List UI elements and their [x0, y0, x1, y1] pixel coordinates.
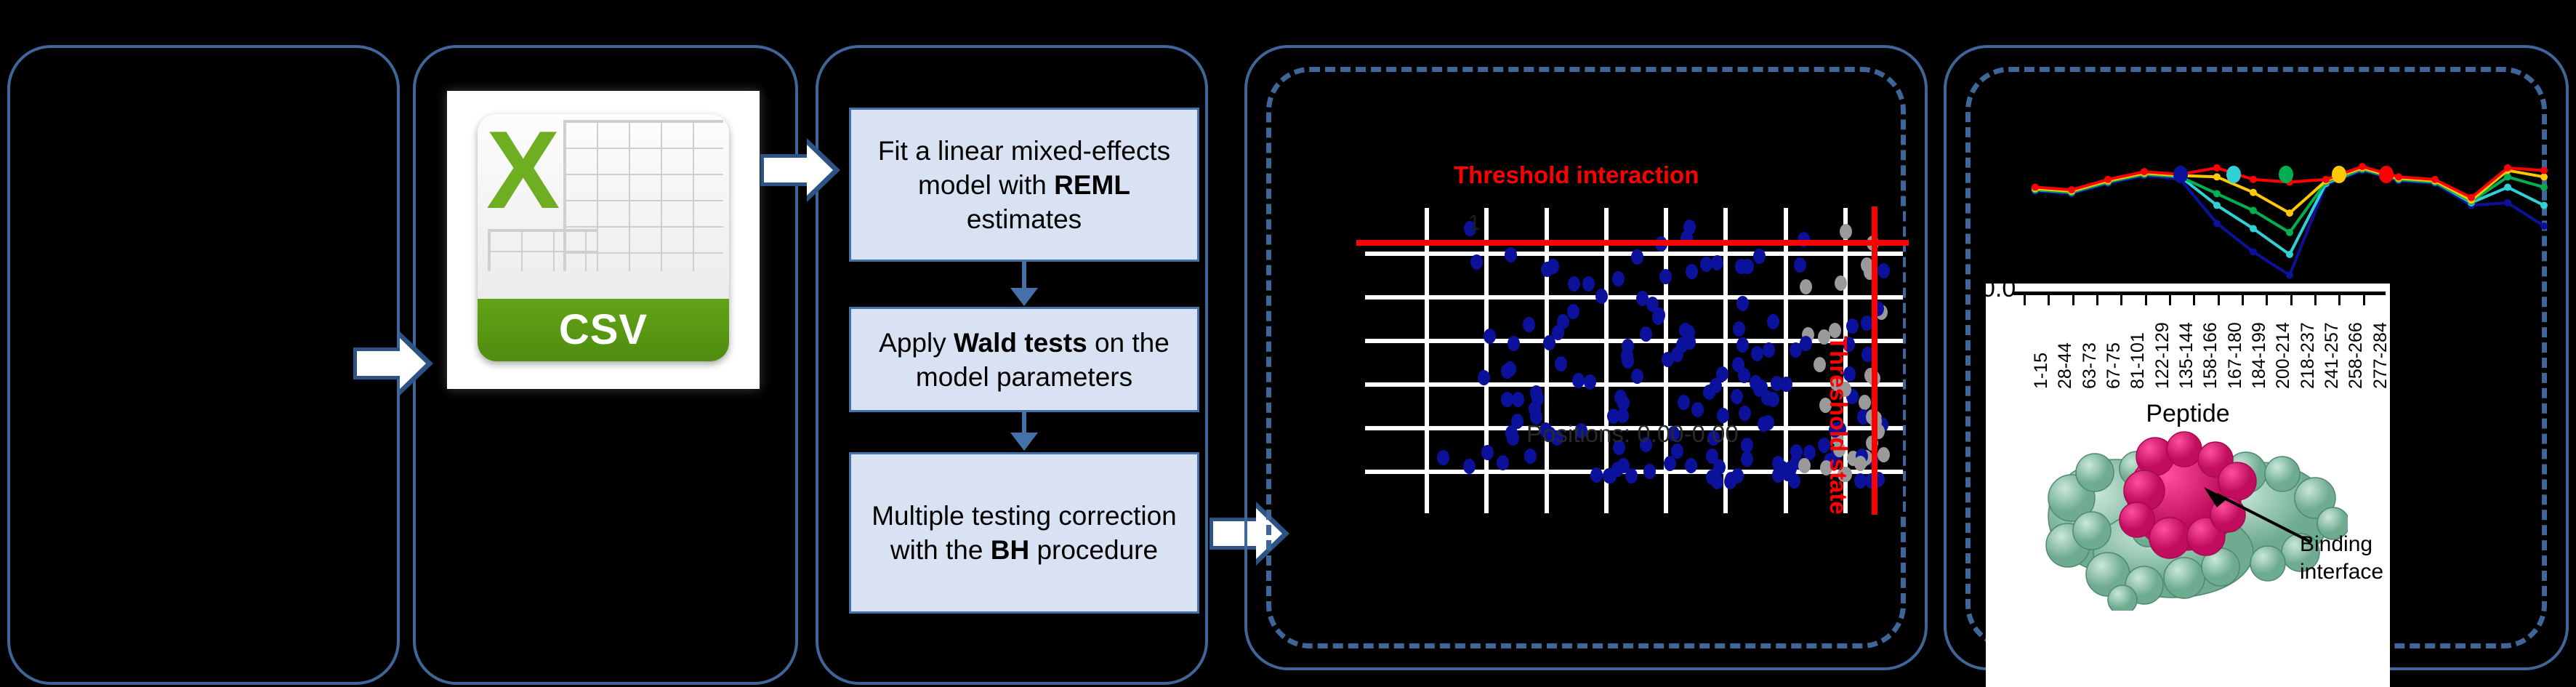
scatter-point [1678, 395, 1690, 410]
scatter-point [1557, 314, 1569, 329]
peptide-tick-label: 63-73 [2080, 342, 2101, 389]
scatter-point [1604, 468, 1617, 483]
peptide-axis-tick [2314, 295, 2317, 305]
scatter-point [1686, 264, 1698, 279]
scatter-point [1568, 276, 1580, 292]
chart-series-marker [2068, 186, 2075, 193]
threshold-interaction-label: Threshold interaction [1454, 161, 1699, 189]
peptide-tick-label: 167-180 [2225, 322, 2246, 389]
scatter-point [1798, 458, 1811, 473]
connector-step1-step2-head [1010, 288, 1038, 306]
scatter-point [1700, 257, 1712, 272]
chart-legend-dot [2173, 166, 2188, 183]
chart-series-marker [2540, 166, 2548, 174]
peptide-tick-label: 81-101 [2128, 332, 2149, 389]
csv-label-band: CSV [478, 299, 729, 361]
scatter-point [1664, 456, 1676, 471]
chart-series-marker [2431, 176, 2439, 183]
peptide-axis-tick [2169, 295, 2171, 305]
arrow-shaft [353, 347, 406, 379]
peptide-axis-tick [2145, 295, 2147, 305]
scatter-point [1541, 262, 1553, 277]
binding-interface-label-line2: interface [2300, 558, 2383, 586]
chart-series-marker [2359, 163, 2366, 170]
arrow-shaft [760, 154, 813, 186]
scatter-point [1741, 451, 1753, 467]
peptide-tick-label: 135-144 [2176, 322, 2197, 389]
chart-series-marker [2141, 168, 2148, 175]
flow-arrow-input-to-data [353, 332, 439, 395]
scatter-point [1840, 224, 1852, 239]
results-white-card: 0.0 1-1528-4463-7367-7581-101122-129135-… [1986, 284, 2390, 687]
peptide-axis-tick [2096, 295, 2098, 305]
peptide-tick-label: 218-237 [2298, 322, 2319, 389]
step-wald-tests: Apply Wald tests on the model parameters [849, 307, 1199, 412]
chart-series-marker [2504, 199, 2511, 206]
connector-step2-step3-head [1010, 433, 1038, 451]
chart-series-marker [2250, 207, 2257, 214]
scatter-point [1567, 304, 1579, 319]
peptide-axis-tick [2048, 295, 2050, 305]
scatter-point [1523, 317, 1535, 332]
chart-series-marker [2540, 201, 2548, 209]
chart-series-marker [2322, 176, 2330, 183]
peptide-axis-tick [2338, 295, 2340, 305]
chart-y-axis-label: 0.0 [1986, 284, 2016, 303]
scatter-point [1733, 321, 1745, 337]
chart-series-marker [2540, 222, 2548, 230]
scatter-point [1572, 373, 1585, 388]
chart-x-axis-title: Peptide [1986, 400, 2390, 428]
scatter-point [1753, 249, 1766, 264]
arrow-head-inner [400, 338, 426, 389]
chart-series-marker [2213, 201, 2221, 209]
peptide-axis-tick [2218, 295, 2220, 305]
connector-step2-step3 [1022, 412, 1026, 434]
peptide-axis-tick [2072, 295, 2074, 305]
csv-file-icon: X CSV [447, 91, 760, 389]
scatter-point [1736, 337, 1749, 353]
scatter-point [1497, 455, 1509, 470]
peptide-tick-label: 277-284 [2370, 322, 2390, 389]
chart-series-marker [2540, 184, 2548, 191]
chart-series-marker [2213, 190, 2221, 197]
scatter-point [1877, 263, 1890, 278]
scatter-gridline-horizontal [1365, 295, 1903, 300]
peptide-axis-tick [2120, 295, 2122, 305]
peptide-axis-tick [2193, 295, 2195, 305]
chart-series-marker [2286, 209, 2293, 217]
csv-icon-tile: X CSV [478, 114, 729, 361]
scatter-point [1481, 445, 1494, 460]
chart-series-marker [2213, 220, 2221, 227]
csv-label-text: CSV [478, 299, 729, 361]
arrow-head-inner [807, 145, 833, 196]
chart-series-marker [2213, 164, 2221, 172]
chart-series-line [2035, 170, 2544, 275]
step-bh-correction: Multiple testing correction with the BH … [849, 452, 1199, 614]
chart-series-marker [2286, 271, 2293, 278]
chart-series-marker [2032, 184, 2039, 191]
scatter-point [1636, 291, 1649, 306]
scatter-point [1710, 378, 1722, 393]
scatter-point [1731, 389, 1743, 404]
peptide-tick-label: 258-266 [2346, 322, 2367, 389]
chart-legend-dot [2226, 166, 2241, 183]
pipeline-stage-input-panel [7, 45, 400, 685]
connector-step1-step2 [1022, 262, 1026, 289]
scatter-point [1512, 392, 1524, 407]
chart-series-marker [2250, 248, 2257, 255]
peptide-tick-label: 122-129 [2152, 322, 2173, 389]
peptide-tick-label: 158-166 [2200, 322, 2221, 389]
chart-x-axis-line [2013, 292, 2386, 295]
scatter-point [1584, 374, 1596, 390]
scatter-point [1741, 438, 1753, 453]
chart-series-marker [2504, 184, 2511, 191]
scatter-point [1625, 468, 1638, 483]
scatter-point [1711, 255, 1723, 270]
chart-legend-dot [2332, 166, 2346, 183]
threshold-state-line [1872, 206, 1877, 515]
peptide-axis-tick [2024, 295, 2026, 305]
scatter-point [1767, 314, 1779, 329]
scatter-point [1736, 296, 1749, 311]
chart-series-marker [2104, 176, 2112, 183]
scatter-point [1582, 276, 1595, 292]
threshold-interaction-line [1356, 240, 1909, 246]
scatter-point [1501, 363, 1513, 379]
scatter-point [1524, 449, 1537, 464]
chart-legend-dot [2379, 166, 2394, 183]
scatter-point [1437, 450, 1449, 465]
scatter-point [1590, 467, 1603, 483]
peptide-tick-label: 67-75 [2104, 342, 2125, 389]
chart-series-marker [2250, 225, 2257, 232]
scatter-point [1508, 336, 1520, 351]
excel-x-glyph: X [486, 116, 560, 225]
scatter-point [1612, 271, 1625, 286]
scatter-point [1877, 447, 1890, 462]
scatter-point [1691, 402, 1704, 417]
peptide-tick-label: 241-257 [2322, 322, 2343, 389]
scatter-point [1505, 247, 1517, 262]
scatter-point [1846, 318, 1859, 334]
scatter-point [1751, 346, 1763, 361]
chart-series-marker [2468, 194, 2475, 201]
scatter-point [1671, 347, 1683, 362]
chart-series-marker [2286, 251, 2293, 258]
peptide-axis-tick [2242, 295, 2244, 305]
scatter-point [1631, 249, 1643, 265]
flow-arrow-data-to-model [760, 138, 846, 202]
chart-series-marker [2286, 229, 2293, 236]
chart-legend-dot [2279, 166, 2293, 183]
scatter-point [1854, 456, 1867, 471]
peptide-axis-tick [2290, 295, 2293, 305]
scatter-point [1835, 276, 1847, 291]
scatter-point [1800, 336, 1812, 351]
scatter-point [1478, 370, 1490, 385]
step-1-text: Fit a linear mixed-effects model with RE… [857, 134, 1191, 236]
scatter-point [1659, 269, 1672, 284]
step-2-text: Apply Wald tests on the model parameters [857, 326, 1191, 394]
scatter-point [1794, 257, 1806, 273]
chart-series-marker [2213, 173, 2221, 180]
volcano-scatter-plot [1365, 208, 1903, 513]
binding-interface-label: Binding interface [2300, 531, 2383, 586]
scatter-point [1739, 406, 1751, 421]
scatter-point [1859, 395, 1871, 410]
chart-series-marker [2504, 164, 2511, 172]
threshold-state-label: Threshold state [1824, 336, 1852, 515]
peptide-axis-tick [2363, 295, 2365, 305]
scatter-point [1800, 279, 1812, 294]
scatter-point [1735, 259, 1747, 274]
peptide-tick-label: 1-15 [2031, 353, 2052, 389]
scatter-faint-axis-label: Positions: 0.00-0.00 [1526, 420, 1739, 448]
scatter-point [1643, 464, 1656, 479]
chart-series-marker [2250, 189, 2257, 196]
chart-series-marker [2395, 173, 2402, 180]
chart-series-marker [2250, 176, 2257, 183]
csv-spreadsheet-grid-secondary [488, 229, 598, 271]
scatter-point [1470, 254, 1483, 270]
peptide-tick-label: 184-199 [2249, 322, 2270, 389]
peptide-tick-label: 28-44 [2055, 342, 2076, 389]
scatter-faint-tick-label: 1 [1468, 211, 1481, 236]
scatter-point [1724, 474, 1736, 489]
scatter-point [1763, 342, 1775, 358]
chart-series-marker [2540, 173, 2548, 180]
peptide-axis-tick [2266, 295, 2268, 305]
scatter-point [1622, 353, 1634, 369]
binding-interface-label-line1: Binding [2300, 531, 2383, 558]
step-3-text: Multiple testing correction with the BH … [857, 499, 1191, 567]
scatter-point [1617, 395, 1630, 411]
scatter-point [1762, 415, 1774, 430]
scatter-point [1555, 356, 1567, 371]
peptide-tick-label: 200-214 [2273, 322, 2294, 389]
step-fit-model: Fit a linear mixed-effects model with RE… [849, 108, 1199, 262]
scatter-point [1685, 458, 1697, 473]
